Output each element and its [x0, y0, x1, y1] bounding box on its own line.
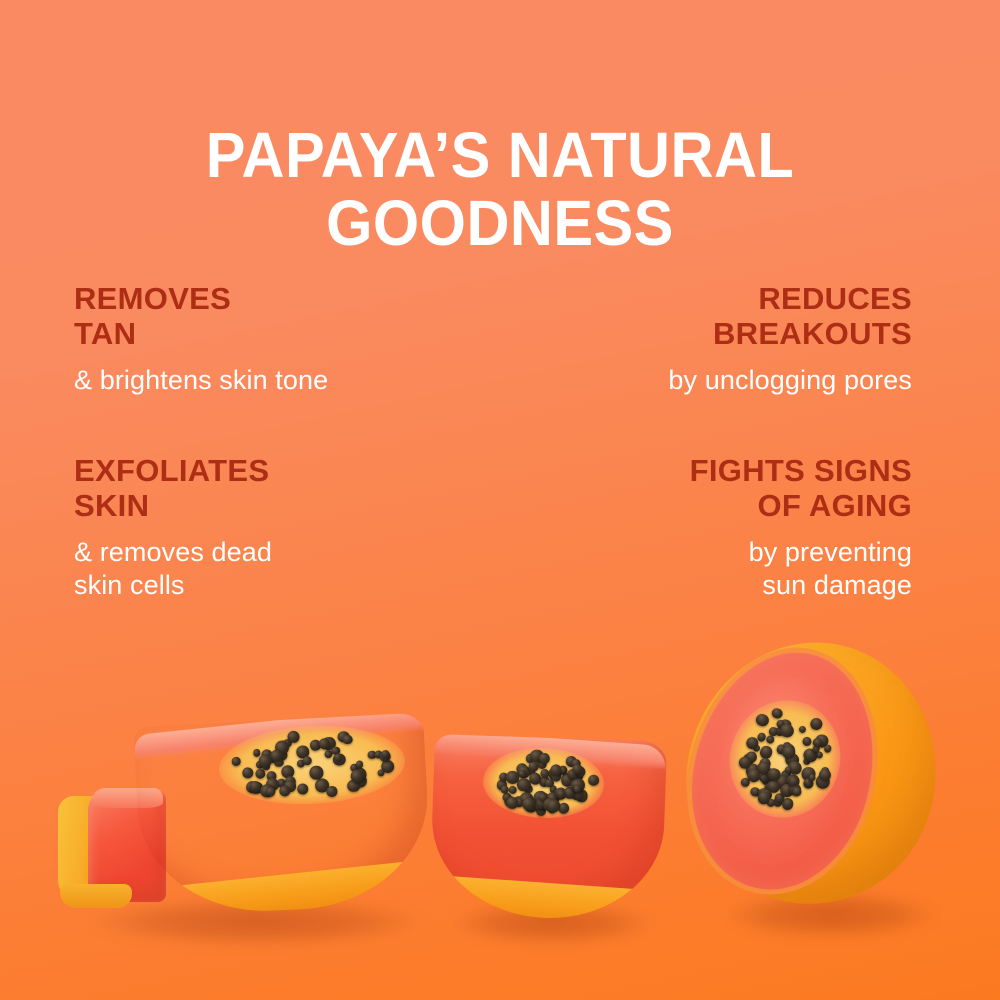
papaya-seed-cavity [482, 746, 605, 820]
benefit-reduces-breakouts: REDUCES BREAKOUTS by unclogging pores [512, 281, 912, 397]
benefit-removes-tan: REMOVES TAN & brightens skin tone [74, 281, 474, 397]
papaya-seed-cavity [217, 721, 406, 809]
benefit-subtext: & removes dead skin cells [74, 536, 474, 602]
benefit-subtext: & brightens skin tone [74, 364, 474, 397]
benefit-heading: REMOVES TAN [74, 281, 474, 351]
papaya-seed [232, 757, 241, 766]
papaya-pith [217, 721, 406, 809]
papaya-seed [506, 771, 519, 784]
benefit-heading: FIGHTS SIGNS OF AGING [512, 453, 912, 523]
benefit-heading: EXFOLIATES SKIN [74, 453, 474, 523]
papaya-seed [556, 789, 566, 799]
papaya-rind-edge [60, 884, 132, 908]
papaya-seed [287, 731, 299, 743]
benefit-exfoliates-skin: EXFOLIATES SKIN & removes dead skin cell… [74, 453, 474, 602]
benefit-subtext: by preventing sun damage [512, 536, 912, 602]
papaya-seed [310, 766, 324, 780]
papaya-half [688, 642, 936, 904]
papaya-seed [259, 754, 272, 767]
papaya-rind [435, 875, 662, 922]
papaya-seed [302, 756, 312, 766]
papaya-wedge-left [138, 720, 428, 910]
papaya-seed [519, 770, 527, 778]
papaya-seed [550, 764, 562, 776]
page-title: PAPAYA’S NATURAL GOODNESS [35, 121, 965, 257]
papaya-seed [327, 786, 338, 797]
benefits-grid: REMOVES TAN & brightens skin tone REDUCE… [0, 281, 1000, 611]
papaya-benefits-poster: PAPAYA’S NATURAL GOODNESS REMOVES TAN & … [0, 0, 1000, 1000]
papaya-rind [152, 859, 432, 917]
papaya-seed [573, 785, 581, 793]
benefit-fights-signs-of-aging: FIGHTS SIGNS OF AGING by preventing sun … [512, 453, 912, 602]
papaya-imagery [0, 620, 1000, 1000]
papaya-wedge-middle [432, 738, 664, 918]
benefit-subtext: by unclogging pores [512, 364, 912, 397]
benefit-heading: REDUCES BREAKOUTS [512, 281, 912, 351]
